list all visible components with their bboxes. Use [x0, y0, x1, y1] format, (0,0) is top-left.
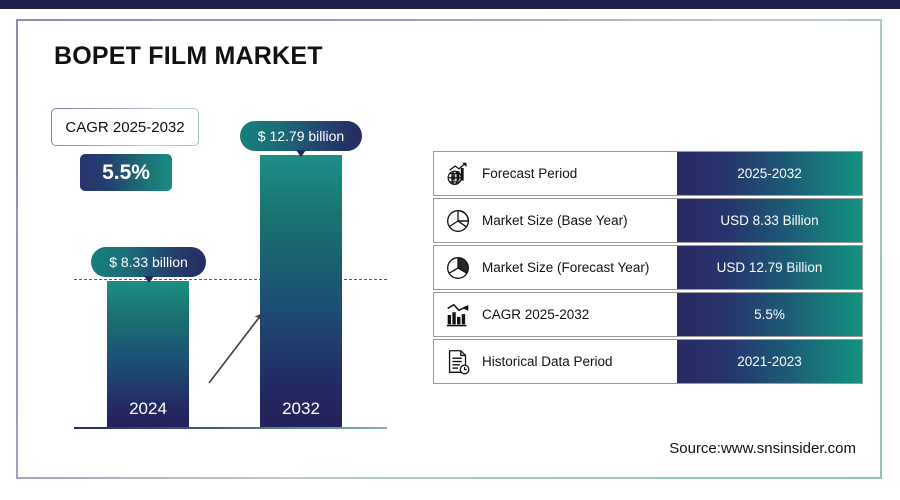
table-row: Market Size (Forecast Year) USD 12.79 Bi…: [433, 245, 863, 290]
content-frame: BOPET FILM MARKET CAGR 2025-2032 5.5% 20…: [16, 19, 882, 479]
content-frame-inner: BOPET FILM MARKET CAGR 2025-2032 5.5% 20…: [18, 21, 880, 477]
table-row-label-cell: Forecast Period: [434, 152, 677, 195]
table-row-value: 2021-2023: [737, 354, 802, 369]
table-row: CAGR 2025-2032 5.5%: [433, 292, 863, 337]
bar-2032-value-text: $ 12.79 billion: [258, 128, 344, 144]
table-row-value: USD 8.33 Billion: [720, 213, 818, 228]
bar-chart: 2024 2032 $ 8.33 billion $ 12.79 billion: [18, 21, 438, 461]
table-row-value-cell: 2025-2032: [677, 152, 862, 195]
top-accent-bar: [0, 0, 900, 9]
table-row-label-cell: Market Size (Forecast Year): [434, 246, 677, 289]
table-row: Historical Data Period 2021-2023: [433, 339, 863, 384]
table-row-value-cell: USD 8.33 Billion: [677, 199, 862, 242]
table-row-value-cell: USD 12.79 Billion: [677, 246, 862, 289]
table-row-value-cell: 5.5%: [677, 293, 862, 336]
table-row-value: 2025-2032: [737, 166, 802, 181]
table-row-label: Market Size (Forecast Year): [482, 260, 649, 275]
table-row-label-cell: CAGR 2025-2032: [434, 293, 677, 336]
table-row-label: CAGR 2025-2032: [482, 307, 589, 322]
growth-arrow-icon: [203, 304, 273, 389]
table-row: Forecast Period 2025-2032: [433, 151, 863, 196]
bar-2032-value-pill: $ 12.79 billion: [240, 121, 362, 151]
table-row-label-cell: Historical Data Period: [434, 340, 677, 383]
table-row: Market Size (Base Year) USD 8.33 Billion: [433, 198, 863, 243]
bar-2032-year-label: 2032: [260, 399, 342, 419]
table-row-label: Forecast Period: [482, 166, 577, 181]
pie-chart-quarters-icon: [442, 205, 474, 237]
table-row-value: 5.5%: [754, 307, 785, 322]
globe-growth-chart-icon: [442, 158, 474, 190]
infographic-canvas: BOPET FILM MARKET CAGR 2025-2032 5.5% 20…: [0, 0, 900, 500]
table-row-value: USD 12.79 Billion: [717, 260, 823, 275]
bar-2024-value-pill: $ 8.33 billion: [91, 247, 206, 277]
bar-2024-year-label: 2024: [107, 399, 189, 419]
table-row-label: Market Size (Base Year): [482, 213, 628, 228]
source-note: Source:www.snsinsider.com: [669, 440, 856, 457]
chart-baseline-axis: [74, 427, 387, 429]
table-row-label-cell: Market Size (Base Year): [434, 199, 677, 242]
pie-chart-thirds-icon: [442, 252, 474, 284]
key-metrics-table: Forecast Period 2025-2032: [433, 151, 863, 386]
bar-chart-arrow-icon: [442, 299, 474, 331]
bar-2024: 2024: [107, 281, 189, 427]
document-clock-icon: [442, 346, 474, 378]
bar-2024-value-text: $ 8.33 billion: [109, 254, 188, 270]
table-row-value-cell: 2021-2023: [677, 340, 862, 383]
table-row-label: Historical Data Period: [482, 354, 613, 369]
